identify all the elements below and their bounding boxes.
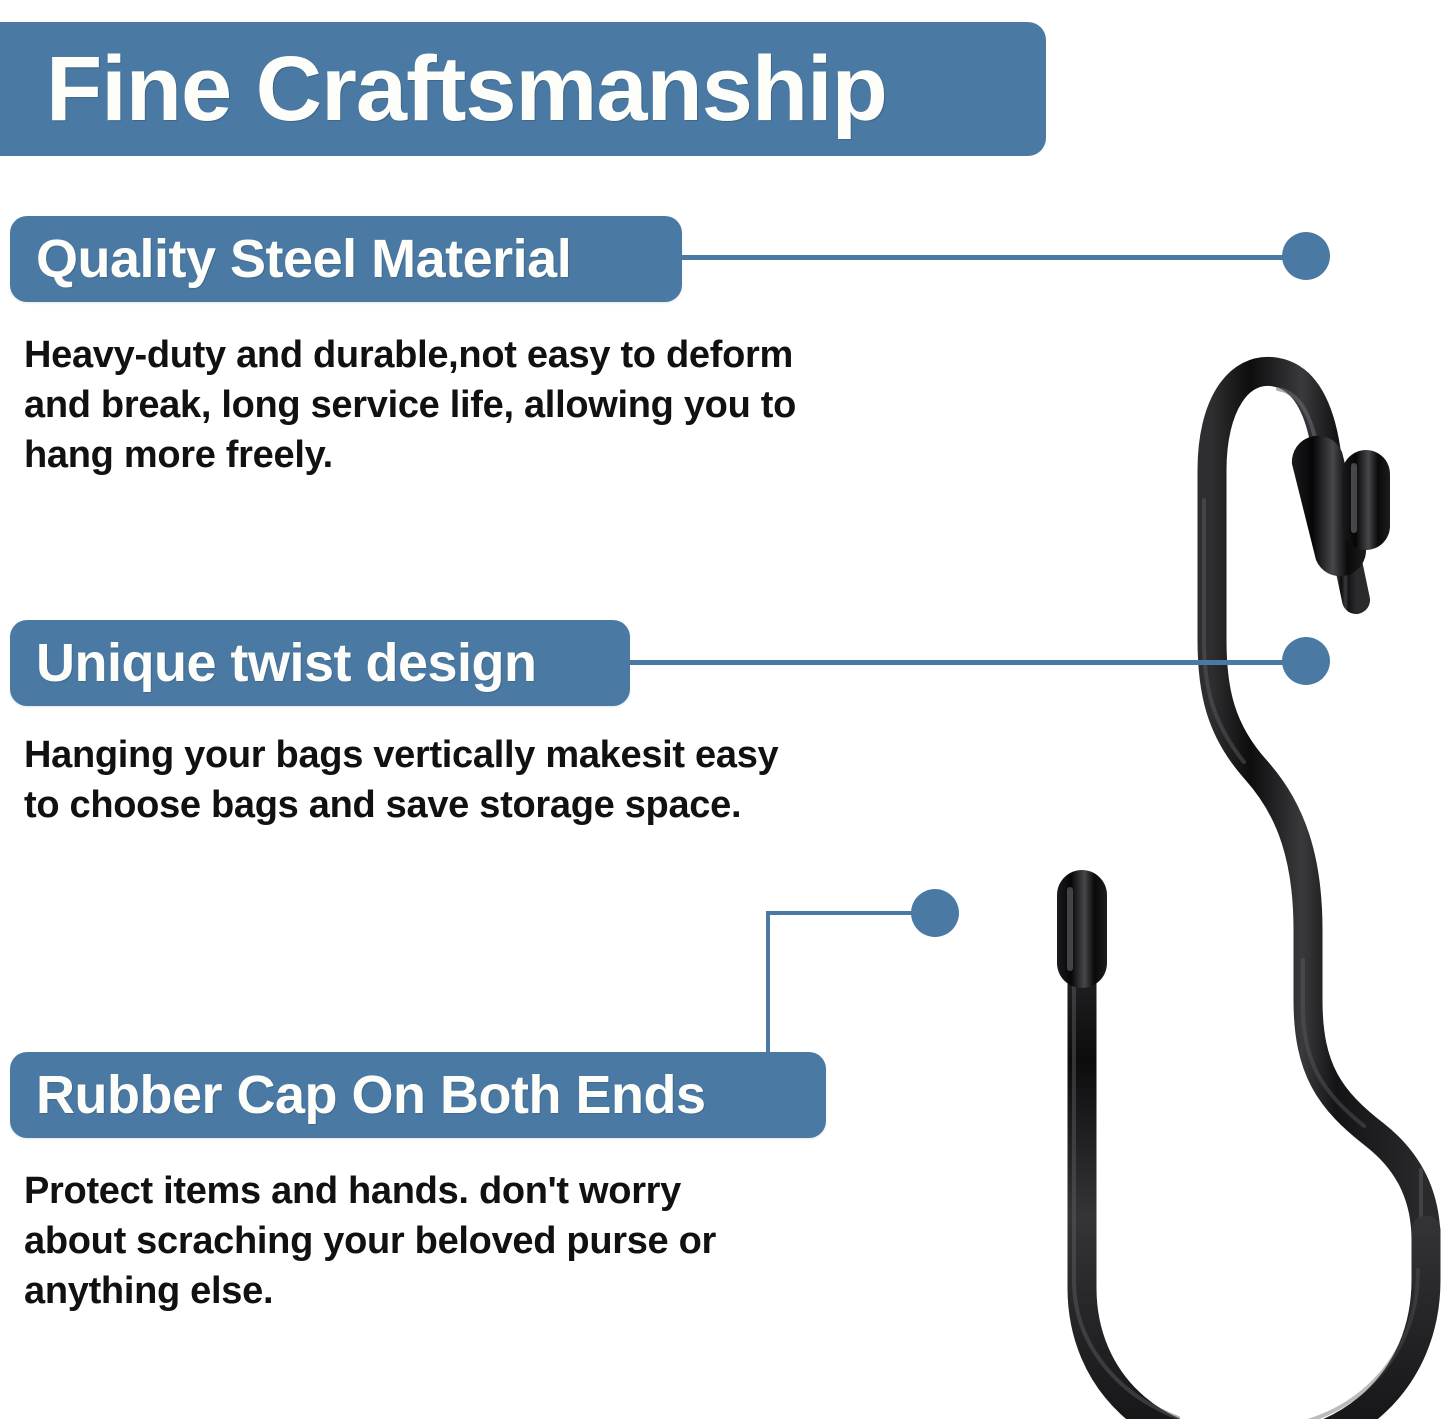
infographic-page: Fine Craftsmanship: [0, 0, 1445, 1419]
connector-line-2: [624, 660, 1310, 665]
product-hook-illustration: [860, 170, 1445, 1419]
connector-dot-1: [1282, 232, 1330, 280]
feature-label: Unique twist design: [36, 636, 537, 690]
feature-label: Quality Steel Material: [36, 232, 571, 286]
upper-rubber-cap-shape: [1342, 450, 1390, 550]
upper-rubber-cap: [1292, 436, 1390, 576]
lower-rubber-cap-shape: [1057, 870, 1107, 988]
feature-pill-quality-steel-material[interactable]: Quality Steel Material: [10, 216, 682, 302]
feature-label: Rubber Cap On Both Ends: [36, 1068, 706, 1122]
feature-description-2: Hanging your bags vertically makesit eas…: [24, 730, 814, 830]
feature-description-3: Protect items and hands. don't worry abo…: [24, 1166, 784, 1316]
hook-lower-section: [1074, 930, 1426, 1419]
header-banner: Fine Craftsmanship: [0, 22, 1046, 156]
connector-line-3-vertical: [766, 911, 770, 1056]
feature-description-1: Heavy-duty and durable,not easy to defor…: [24, 330, 814, 480]
hook-lower-u-bar: [1082, 930, 1426, 1419]
page-title: Fine Craftsmanship: [46, 43, 887, 135]
connector-line-1: [676, 255, 1310, 260]
connector-dot-2: [1282, 637, 1330, 685]
lower-rubber-cap: [1057, 870, 1107, 988]
feature-pill-rubber-cap-on-both-ends[interactable]: Rubber Cap On Both Ends: [10, 1052, 826, 1138]
feature-pill-unique-twist-design[interactable]: Unique twist design: [10, 620, 630, 706]
connector-dot-3: [911, 889, 959, 937]
